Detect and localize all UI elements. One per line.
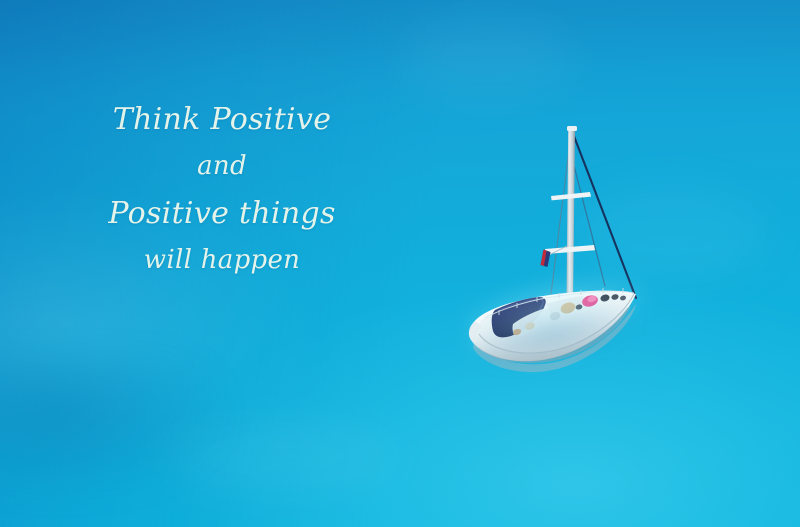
quote-line-1: Think Positive	[62, 96, 382, 143]
quote-line-2: and	[62, 143, 382, 190]
quote-line-3: Positive things	[62, 190, 382, 237]
sea-ripple-bottom	[160, 422, 400, 491]
quote-text-block: Think Positive and Positive things will …	[62, 96, 382, 284]
sailboat	[455, 118, 655, 378]
sea-ripple-top	[400, 16, 576, 100]
quote-line-4: will happen	[62, 237, 382, 284]
masthead-fitting	[567, 126, 577, 131]
quote-image-canvas: Think Positive and Positive things will …	[0, 0, 800, 527]
